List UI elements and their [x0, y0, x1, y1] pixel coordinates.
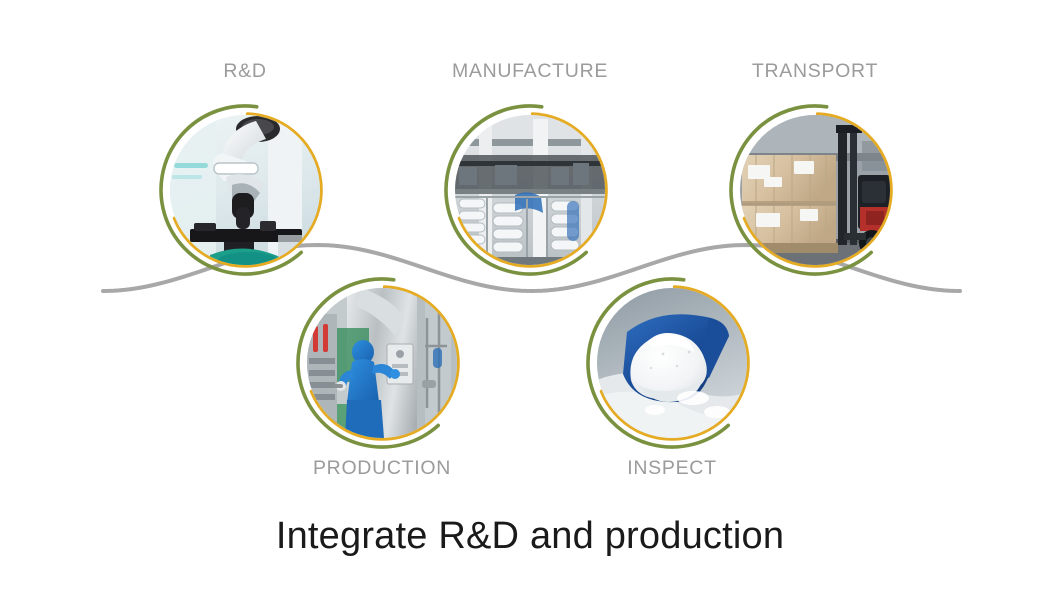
node-ring-production — [294, 275, 470, 451]
page-caption: Integrate R&D and production — [0, 515, 1060, 558]
node-ring-transport — [727, 102, 903, 278]
wave-connector — [0, 0, 1060, 596]
factory-photo[interactable] — [455, 115, 605, 265]
powder-scoop-photo[interactable] — [597, 288, 747, 438]
process-node-rd[interactable]: R&D — [157, 102, 333, 278]
node-label-manufacture: MANUFACTURE — [380, 60, 680, 83]
forklift-pallet-photo[interactable] — [740, 115, 890, 265]
cleanroom-worker-photo[interactable] — [307, 288, 457, 438]
node-ring-rd — [157, 102, 333, 278]
node-ring-inspect — [584, 275, 760, 451]
process-node-inspect[interactable]: INSPECT — [584, 275, 760, 451]
process-node-manufacture[interactable]: MANUFACTURE — [442, 102, 618, 278]
process-node-transport[interactable]: TRANSPORT — [727, 102, 903, 278]
node-label-rd: R&D — [95, 60, 395, 83]
node-label-transport: TRANSPORT — [665, 60, 965, 83]
process-node-production[interactable]: PRODUCTION — [294, 275, 470, 451]
node-ring-manufacture — [442, 102, 618, 278]
microscope-photo[interactable] — [170, 115, 320, 265]
infographic-canvas: R&D — [0, 0, 1060, 596]
node-label-production: PRODUCTION — [232, 457, 532, 480]
node-label-inspect: INSPECT — [522, 457, 822, 480]
